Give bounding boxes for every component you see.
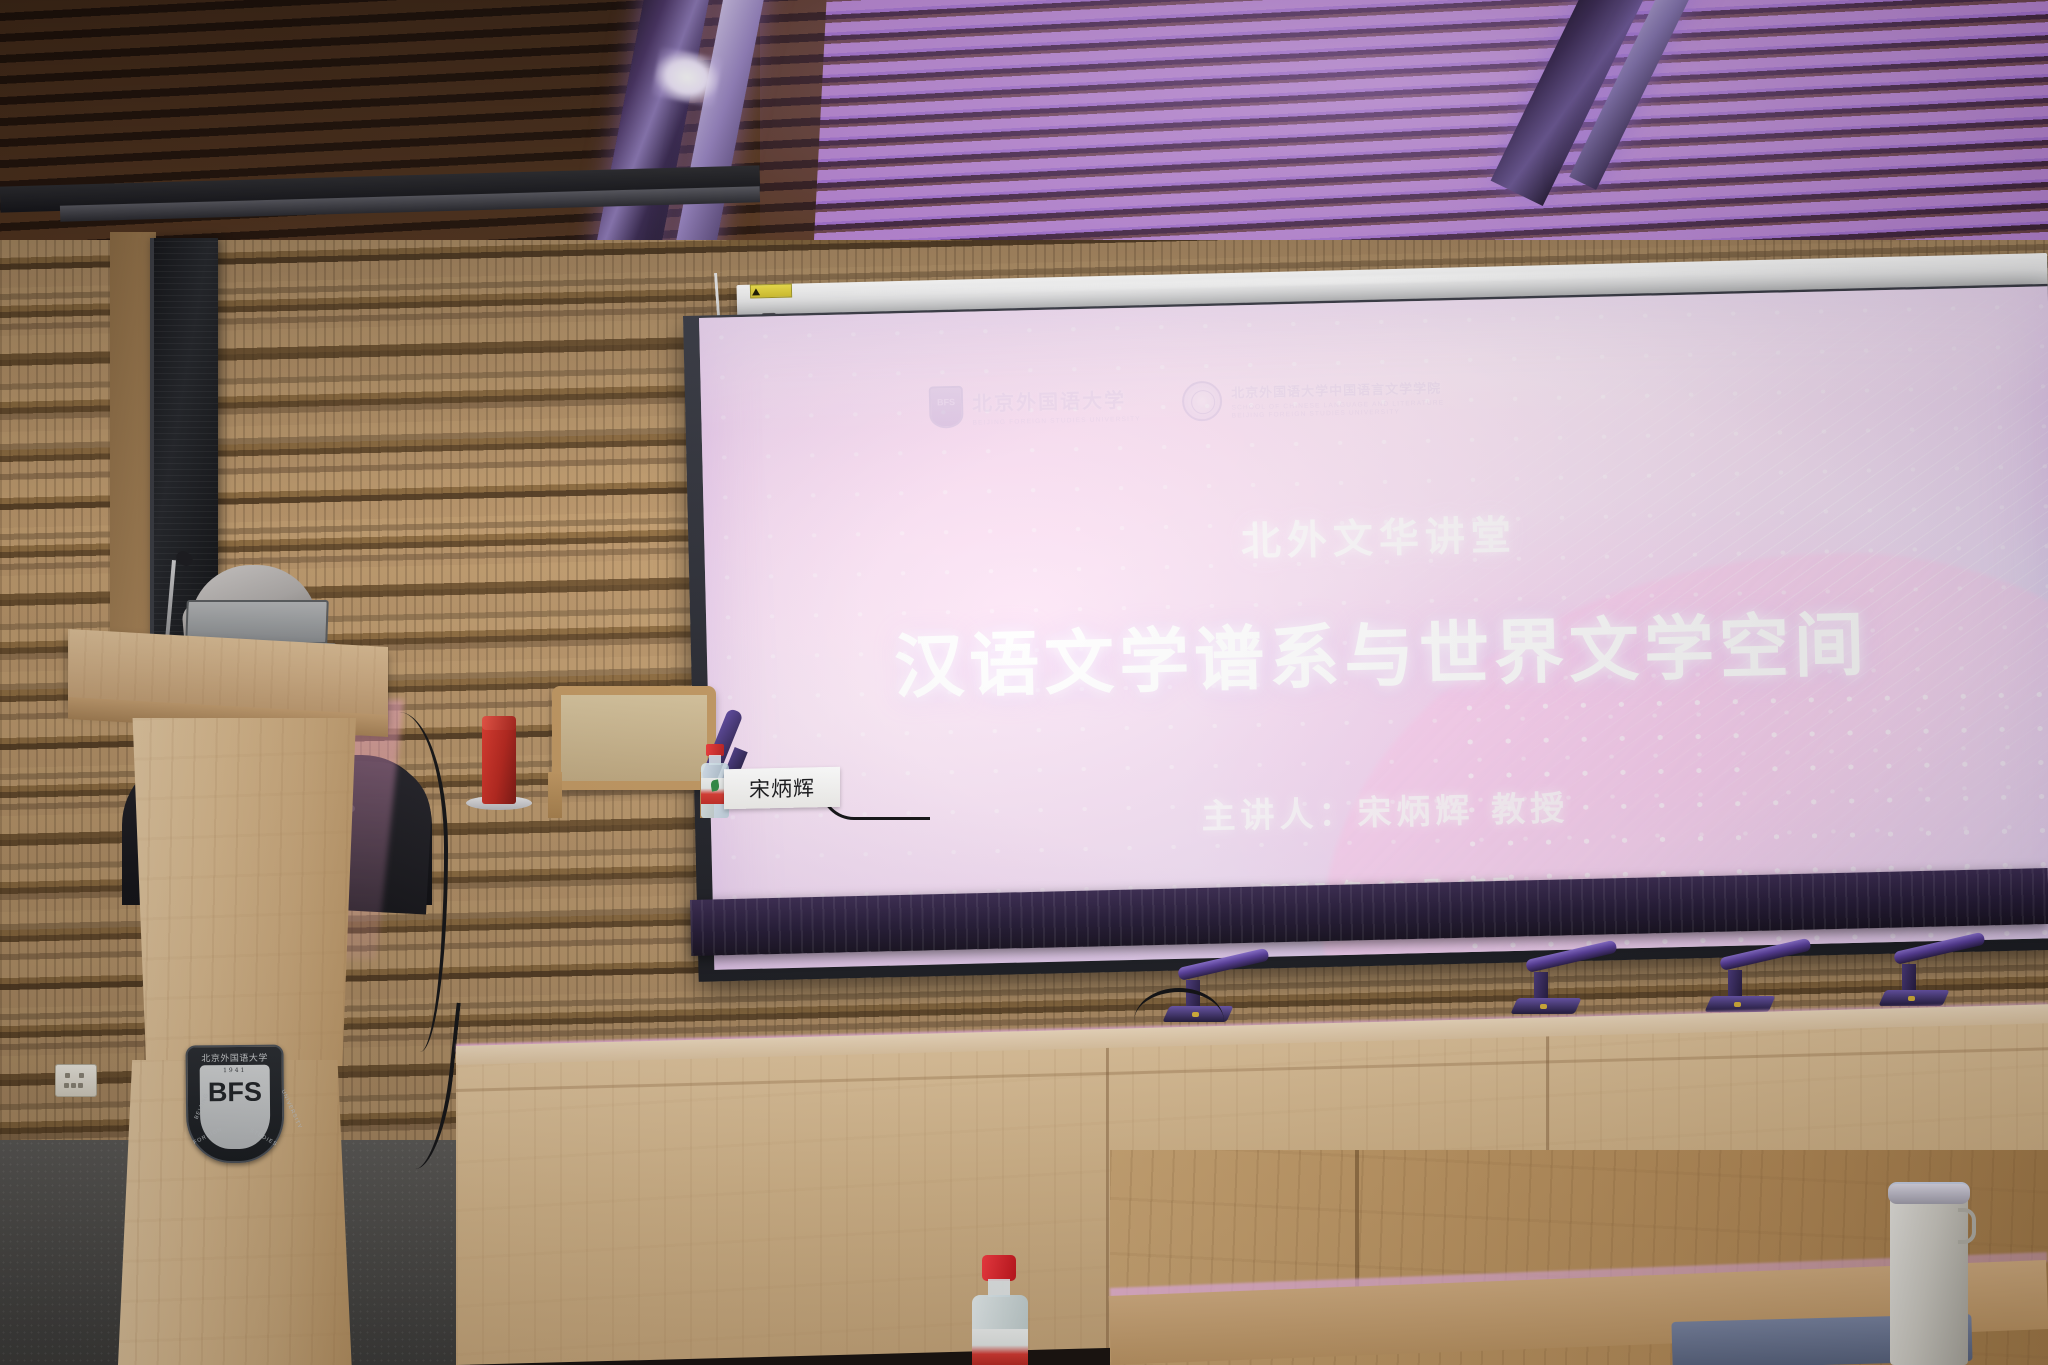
bfs-emblem-arc-2: FOREIGN [193,1127,224,1146]
mic-led-indicator [1908,996,1915,1001]
flask-handle[interactable] [1958,1208,1976,1244]
mic-led-indicator [1734,1002,1741,1007]
bfs-shield-logo-icon [929,386,964,429]
slide-logo-university: 北京外国语大学 BEIJING FOREIGN STUDIES UNIVERSI… [929,382,1141,429]
bfs-emblem: 北京外国语大学 1941 BFS BEIJING FOREIGN STUDIES… [185,1045,284,1164]
foreground-bottle-label [972,1329,1028,1365]
water-bottle-foreground[interactable] [968,1255,1032,1365]
chair-leg-left [548,772,562,818]
slide-logo-university-cn: 北京外国语大学 [972,383,1141,416]
bfs-emblem-arc-text: BEIJING FOREIGN STUDIES UNIVERSITY [185,1045,284,1164]
nameplate: 宋炳辉 [724,767,840,809]
ceiling-wood-slats [0,0,2048,262]
ceiling-glow [760,0,2048,262]
projection-screen: 北京外国语大学 BEIJING FOREIGN STUDIES UNIVERSI… [699,286,2048,970]
bfs-emblem-arc-3: STUDIES [249,1128,278,1148]
slide-logo-university-text: 北京外国语大学 BEIJING FOREIGN STUDIES UNIVERSI… [972,383,1141,426]
podium-body-grain [128,718,356,1066]
warning-label-icon [750,283,792,298]
slide-logo-school-text: 北京外国语大学中国语言文学学院 SCHOOL OF CHINESE LANGUA… [1231,377,1445,419]
slide-logo-university-en: BEIJING FOREIGN STUDIES UNIVERSITY [972,415,1140,426]
white-vacuum-flask[interactable] [1890,1190,1968,1365]
ceiling-shadow [0,0,700,262]
power-outlet[interactable] [55,1064,97,1097]
flask-lid[interactable] [1888,1182,1970,1204]
slide-logo-school-cn: 北京外国语大学中国语言文学学院 [1231,377,1444,401]
bfs-emblem-arc-1: BEIJING [194,1092,211,1120]
podium-body-upper [128,718,356,1066]
foreground-bottle-cap [982,1255,1016,1281]
slide-logo-school: 北京外国语大学中国语言文学学院 SCHOOL OF CHINESE LANGUA… [1182,375,1445,421]
red-flask-cap[interactable] [482,716,516,730]
conference-chair-back[interactable] [552,686,716,790]
red-vacuum-flask[interactable] [482,724,516,804]
lecture-hall-photo: 北京外国语大学 BEIJING FOREIGN STUDIES UNIVERSI… [0,0,2048,1365]
mic-led-indicator [1540,1004,1547,1009]
school-seal-logo-icon [1182,381,1223,422]
nameplate-text: 宋炳辉 [749,772,815,803]
